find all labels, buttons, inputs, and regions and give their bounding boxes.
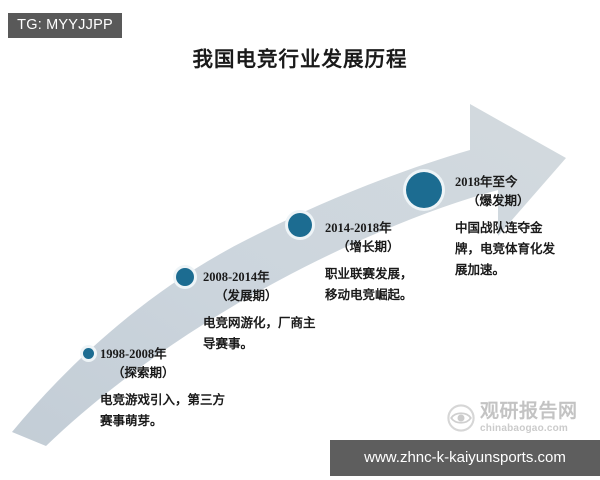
footer-url-bar: www.zhnc-k-kaiyunsports.com [330,440,600,476]
milestone-marker-3 [288,213,312,237]
milestone-1-description: 电竞游戏引入，第三方赛事萌芽。 [100,390,228,432]
milestone-1-phase: （探索期） [100,364,230,383]
watermark-text: 观研报告网 chinabaogao.com [480,402,578,434]
milestone-2-period: 2008-2014年 [203,268,323,287]
eye-swirl-logo-icon [447,404,475,432]
milestone-4-description: 中国战队连夺金牌，电竞体育化发展加速。 [455,218,555,281]
infographic-canvas: TG: MYYJJPP 我国电竞行业发展历程 1998-2008年 （探索期） … [0,0,600,480]
milestone-3-phase: （增长期） [325,238,421,257]
milestone-1: 1998-2008年 （探索期） 电竞游戏引入，第三方赛事萌芽。 [100,345,230,432]
milestone-marker-1 [83,348,94,359]
milestone-2: 2008-2014年 （发展期） 电竞网游化，厂商主导赛事。 [203,268,323,355]
milestone-3: 2014-2018年 （增长期） 职业联赛发展，移动电竞崛起。 [325,219,421,306]
milestone-marker-2 [176,268,194,286]
watermark-brand-en: chinabaogao.com [480,424,578,434]
milestone-4: 2018年至今 （爆发期） 中国战队连夺金牌，电竞体育化发展加速。 [455,173,557,281]
milestone-marker-4 [406,172,442,208]
milestone-2-description: 电竞网游化，厂商主导赛事。 [203,313,321,355]
milestone-3-period: 2014-2018年 [325,219,421,238]
milestone-3-description: 职业联赛发展，移动电竞崛起。 [325,264,417,306]
watermark: 观研报告网 chinabaogao.com [447,396,597,440]
milestone-4-period: 2018年至今 [455,173,557,192]
milestone-4-phase: （爆发期） [455,192,557,211]
watermark-brand-cn: 观研报告网 [480,402,578,421]
milestone-2-phase: （发展期） [203,287,323,306]
